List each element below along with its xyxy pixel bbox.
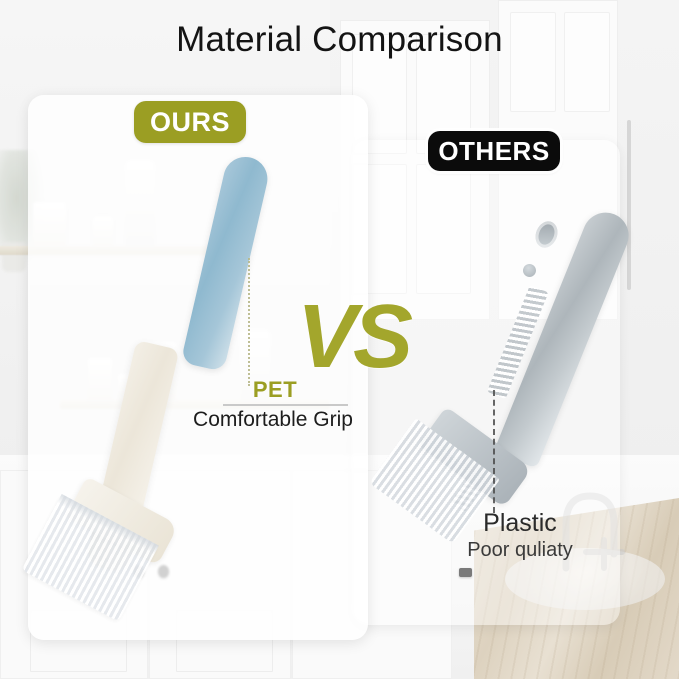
versus-label: VS xyxy=(297,292,409,382)
ours-leader-line xyxy=(248,258,250,386)
brush-hang-hole xyxy=(532,218,562,251)
cabinet-handle xyxy=(627,120,631,290)
others-badge: OTHERS xyxy=(428,131,560,171)
others-drawback-label: Poor quliaty xyxy=(430,538,610,563)
ours-material-label: PET xyxy=(175,378,375,401)
ours-badge: OURS xyxy=(134,101,246,143)
others-callout: Plastic Poor quliaty xyxy=(430,510,610,563)
product-comparison-image: Material Comparison OURS OTHERS VS PET C… xyxy=(0,0,679,679)
others-leader-line xyxy=(493,390,495,513)
ours-product-brush xyxy=(60,140,300,610)
brush-screw xyxy=(521,262,538,279)
others-material-label: Plastic xyxy=(430,510,610,538)
callout-divider xyxy=(223,404,348,406)
page-title: Material Comparison xyxy=(0,20,679,60)
ours-benefit-label: Comfortable Grip xyxy=(171,408,375,432)
ours-callout: PET Comfortable Grip xyxy=(175,378,375,432)
brush-handle-grip-blue xyxy=(181,153,272,372)
